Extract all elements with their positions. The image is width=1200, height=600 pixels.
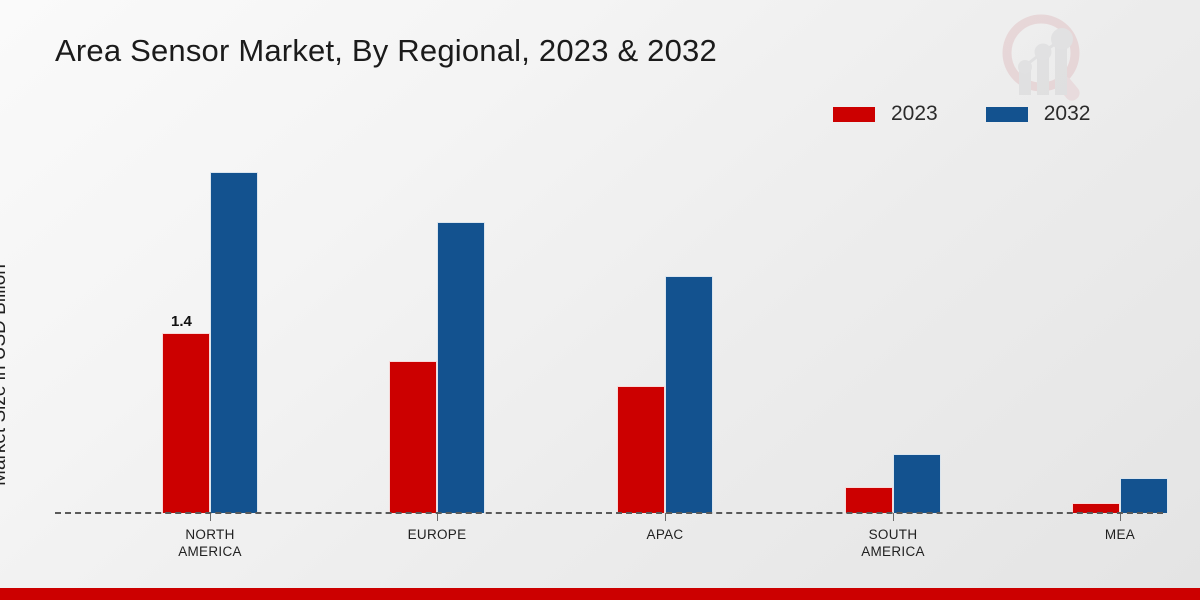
page-title: Area Sensor Market, By Regional, 2023 & … xyxy=(55,33,717,69)
x-axis-label-line: NORTH xyxy=(178,526,242,543)
bar-2032-mea[interactable] xyxy=(1120,478,1168,513)
y-axis-title: Market Size in USD Billion xyxy=(0,215,11,535)
legend-item-2032[interactable]: 2032 xyxy=(986,102,1091,126)
chart-legend: 2023 2032 xyxy=(833,102,1090,126)
bar-group xyxy=(845,140,941,513)
x-axis-tick xyxy=(893,513,894,521)
x-axis-label-north-america: NORTHAMERICA xyxy=(178,526,242,560)
bar-pair xyxy=(845,140,941,513)
legend-swatch-2023 xyxy=(833,107,875,122)
x-axis-label-line: MEA xyxy=(1105,526,1135,543)
legend-label-2032: 2032 xyxy=(1044,102,1091,126)
footer-accent-bar xyxy=(0,588,1200,600)
x-axis-label-europe: EUROPE xyxy=(408,526,467,543)
x-axis-label-line: AMERICA xyxy=(178,543,242,560)
bar-group xyxy=(617,140,713,513)
bar-2023-apac[interactable] xyxy=(617,386,665,513)
bar-pair xyxy=(389,140,485,513)
x-axis-label-line: SOUTH xyxy=(861,526,925,543)
x-axis-tick xyxy=(1120,513,1121,521)
x-axis-label-line: APAC xyxy=(647,526,684,543)
bar-group xyxy=(1072,140,1168,513)
x-axis-label-line: AMERICA xyxy=(861,543,925,560)
plot-area: 1.4NORTHAMERICAEUROPEAPACSOUTHAMERICAMEA xyxy=(55,140,1163,513)
bar-pair xyxy=(1072,140,1168,513)
x-axis-tick xyxy=(437,513,438,521)
x-axis-label-line: EUROPE xyxy=(408,526,467,543)
bar-2023-europe[interactable] xyxy=(389,361,437,513)
bar-group: 1.4 xyxy=(162,140,258,513)
bar-2023-south-america[interactable] xyxy=(845,487,893,513)
legend-swatch-2032 xyxy=(986,107,1028,122)
x-axis-label-south-america: SOUTHAMERICA xyxy=(861,526,925,560)
bar-2023-north-america[interactable] xyxy=(162,333,210,513)
bar-2032-apac[interactable] xyxy=(665,276,713,513)
bar-pair xyxy=(162,140,258,513)
x-axis-baseline xyxy=(55,512,1163,514)
bar-2032-north-america[interactable] xyxy=(210,172,258,513)
market-research-magnifier-logo-icon xyxy=(992,10,1102,102)
x-axis-label-mea: MEA xyxy=(1105,526,1135,543)
legend-item-2023[interactable]: 2023 xyxy=(833,102,938,126)
x-axis-tick xyxy=(665,513,666,521)
bar-2032-south-america[interactable] xyxy=(893,454,941,513)
legend-label-2023: 2023 xyxy=(891,102,938,126)
bar-pair xyxy=(617,140,713,513)
bar-group xyxy=(389,140,485,513)
x-axis-tick xyxy=(210,513,211,521)
x-axis-label-apac: APAC xyxy=(647,526,684,543)
chart-canvas: Area Sensor Market, By Regional, 2023 & … xyxy=(0,0,1200,600)
bar-2032-europe[interactable] xyxy=(437,222,485,513)
